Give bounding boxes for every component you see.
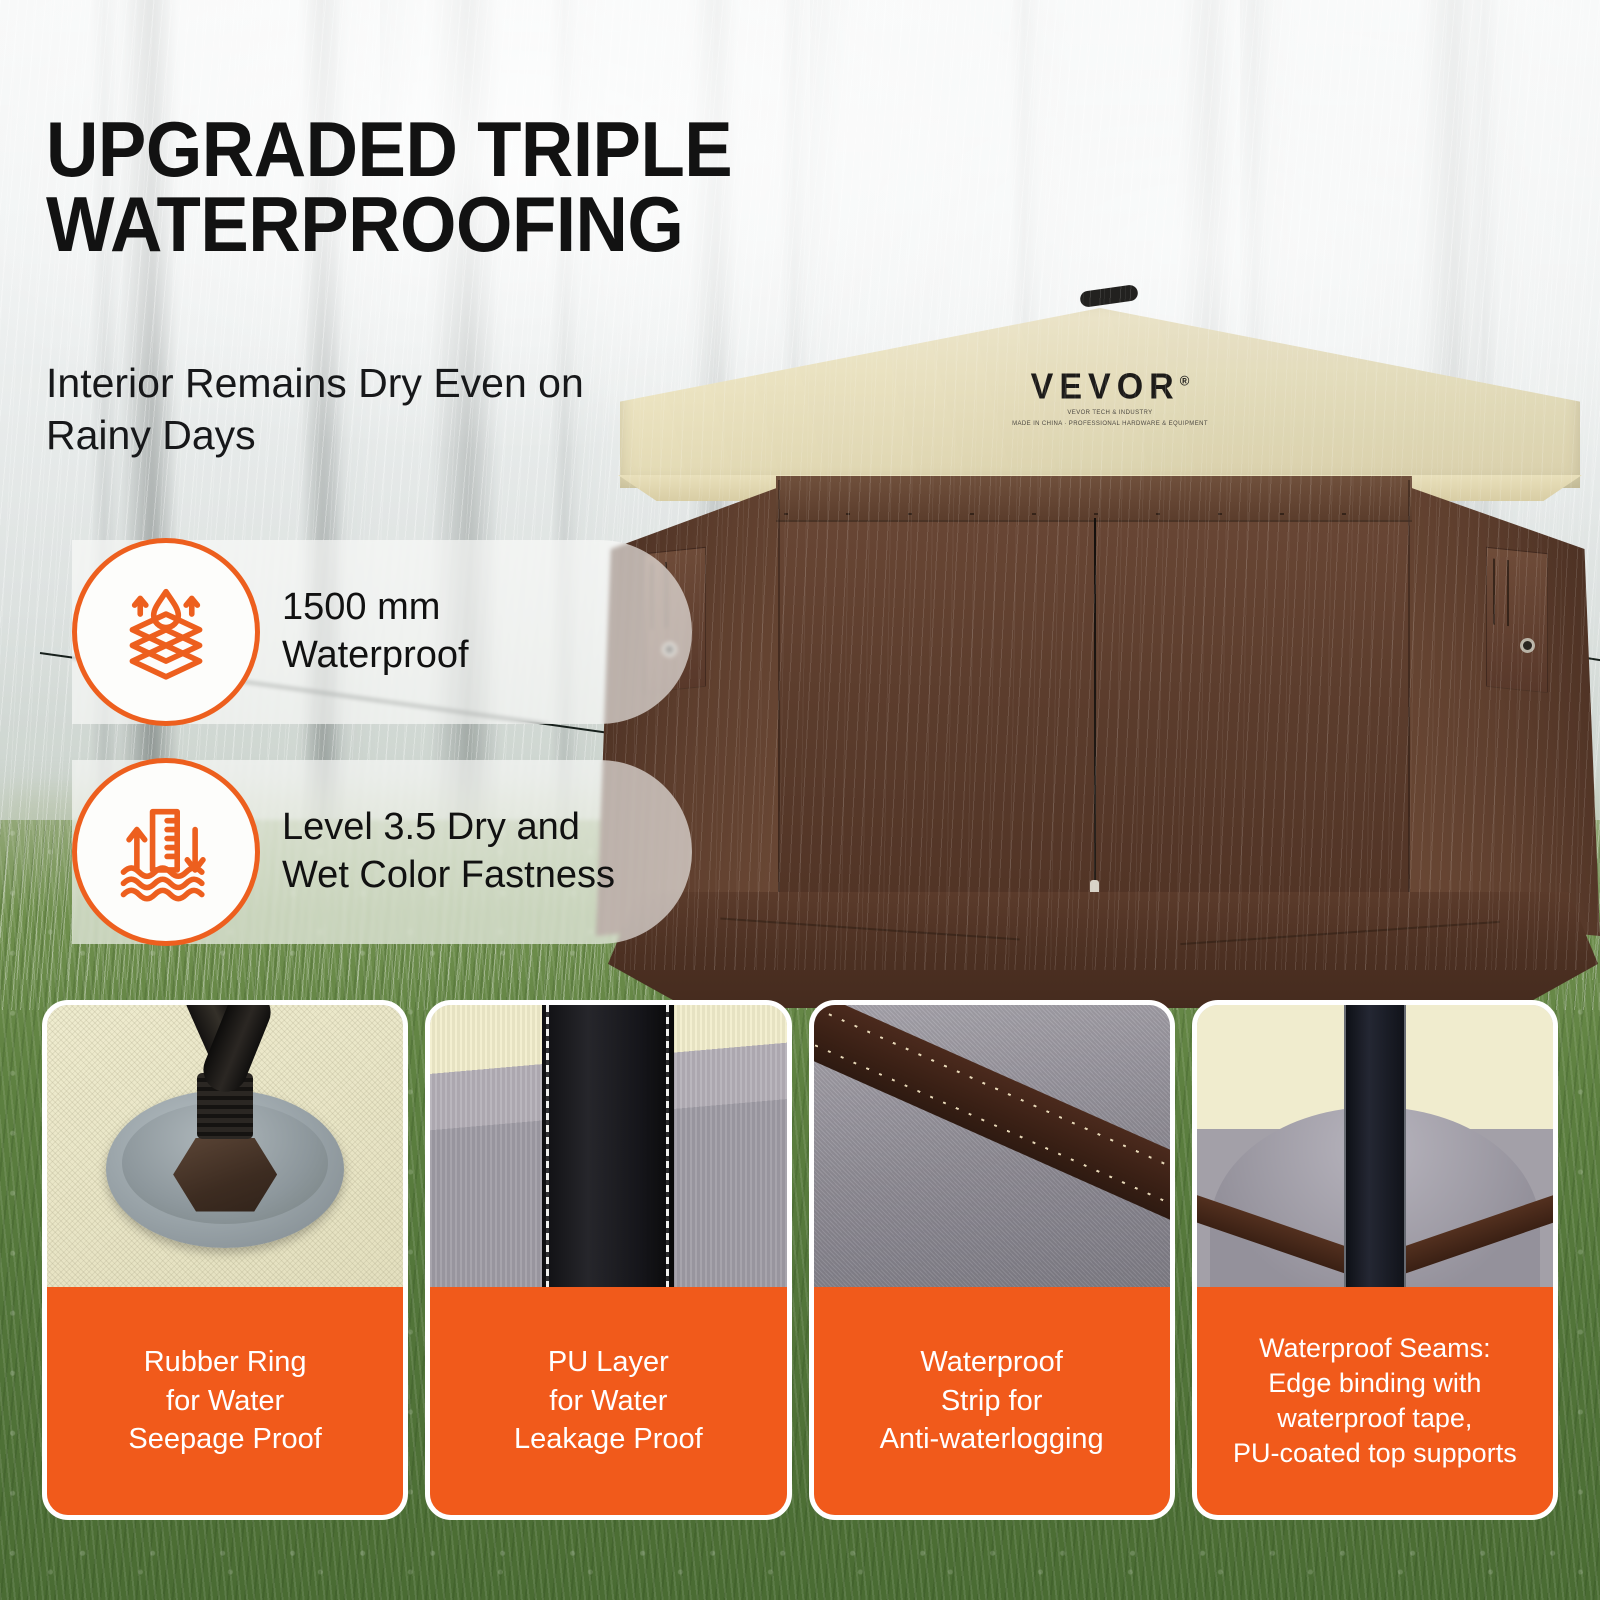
feature-pill-color-fastness: Level 3.5 Dry and Wet Color Fastness	[72, 760, 692, 944]
tent-seam	[1408, 480, 1410, 950]
trademark-symbol: ®	[1180, 373, 1190, 389]
feature-text: Level 3.5 Dry and Wet Color Fastness	[282, 804, 615, 900]
tent-grommet-right	[1520, 638, 1535, 653]
feature-line-2: Waterproof	[282, 632, 469, 680]
caption-line: Edge binding with	[1233, 1366, 1517, 1401]
waterproof-strip-photo	[814, 1005, 1170, 1287]
product-marketing-image: VEVOR® VEVOR TECH & INDUSTRY MADE IN CHI…	[0, 0, 1600, 1600]
detail-card-waterproof-seams: Waterproof Seams: Edge binding with wate…	[1192, 1000, 1558, 1520]
card-caption: Waterproof Strip for Anti-waterlogging	[814, 1287, 1170, 1515]
waterproof-seams-photo	[1197, 1005, 1553, 1287]
brand-name: VEVOR	[1031, 367, 1180, 407]
page-title: UPGRADED TRIPLE WATERPROOFING	[46, 112, 827, 262]
white-stitching	[546, 1005, 549, 1287]
caption-line: Rubber Ring	[128, 1343, 321, 1382]
card-caption: Waterproof Seams: Edge binding with wate…	[1197, 1287, 1553, 1515]
tent-valance	[776, 476, 1412, 522]
color-fastness-gauge-icon	[72, 758, 260, 946]
tent-ground-skirt	[608, 892, 1598, 1008]
subtitle: Interior Remains Dry Even on Rainy Days	[46, 358, 686, 461]
pole-sleeve	[1344, 1005, 1406, 1287]
headline-line-2: WATERPROOFING	[46, 187, 827, 262]
vevor-logo: VEVOR® VEVOR TECH & INDUSTRY MADE IN CHI…	[980, 368, 1240, 428]
caption-line: Strip for	[880, 1382, 1104, 1421]
caption-line: Leakage Proof	[514, 1420, 703, 1459]
rubber-ring-photo	[47, 1005, 403, 1287]
caption-line: Seepage Proof	[128, 1420, 321, 1459]
caption-line: for Water	[514, 1382, 703, 1421]
feature-line-1: 1500 mm	[282, 584, 469, 632]
caption-line: Anti-waterlogging	[880, 1420, 1104, 1459]
caption-line: PU-coated top supports	[1233, 1436, 1517, 1471]
caption-line: for Water	[128, 1382, 321, 1421]
black-strap	[542, 1005, 674, 1287]
caption-line: waterproof tape,	[1233, 1401, 1517, 1436]
feature-pill-waterproof: 1500 mm Waterproof	[72, 540, 692, 724]
card-caption: Rubber Ring for Water Seepage Proof	[47, 1287, 403, 1515]
detail-card-waterproof-strip: Waterproof Strip for Anti-waterlogging	[809, 1000, 1175, 1520]
pu-layer-photo	[430, 1005, 786, 1287]
tent-seam	[778, 480, 780, 950]
white-stitching	[666, 1005, 669, 1287]
feature-line-1: Level 3.5 Dry and	[282, 804, 615, 852]
feature-text: 1500 mm Waterproof	[282, 584, 469, 680]
brand-fineprint-1: VEVOR TECH & INDUSTRY	[980, 410, 1240, 418]
detail-card-pu-layer: PU Layer for Water Leakage Proof	[425, 1000, 791, 1520]
waterproof-layers-icon	[72, 538, 260, 726]
gazebo-tent-product: VEVOR® VEVOR TECH & INDUSTRY MADE IN CHI…	[600, 280, 1600, 970]
caption-line: Waterproof	[880, 1343, 1104, 1382]
caption-line: Waterproof Seams:	[1233, 1331, 1517, 1366]
feature-line-2: Wet Color Fastness	[282, 852, 615, 900]
roof-peak-knob	[1079, 284, 1139, 308]
card-caption: PU Layer for Water Leakage Proof	[430, 1287, 786, 1515]
tent-side-pocket	[1486, 547, 1548, 694]
detail-card-rubber-ring: Rubber Ring for Water Seepage Proof	[42, 1000, 408, 1520]
brand-fineprint-2: MADE IN CHINA · PROFESSIONAL HARDWARE & …	[980, 421, 1240, 429]
caption-line: PU Layer	[514, 1343, 703, 1382]
detail-cards-row: Rubber Ring for Water Seepage Proof PU L…	[42, 1000, 1558, 1520]
